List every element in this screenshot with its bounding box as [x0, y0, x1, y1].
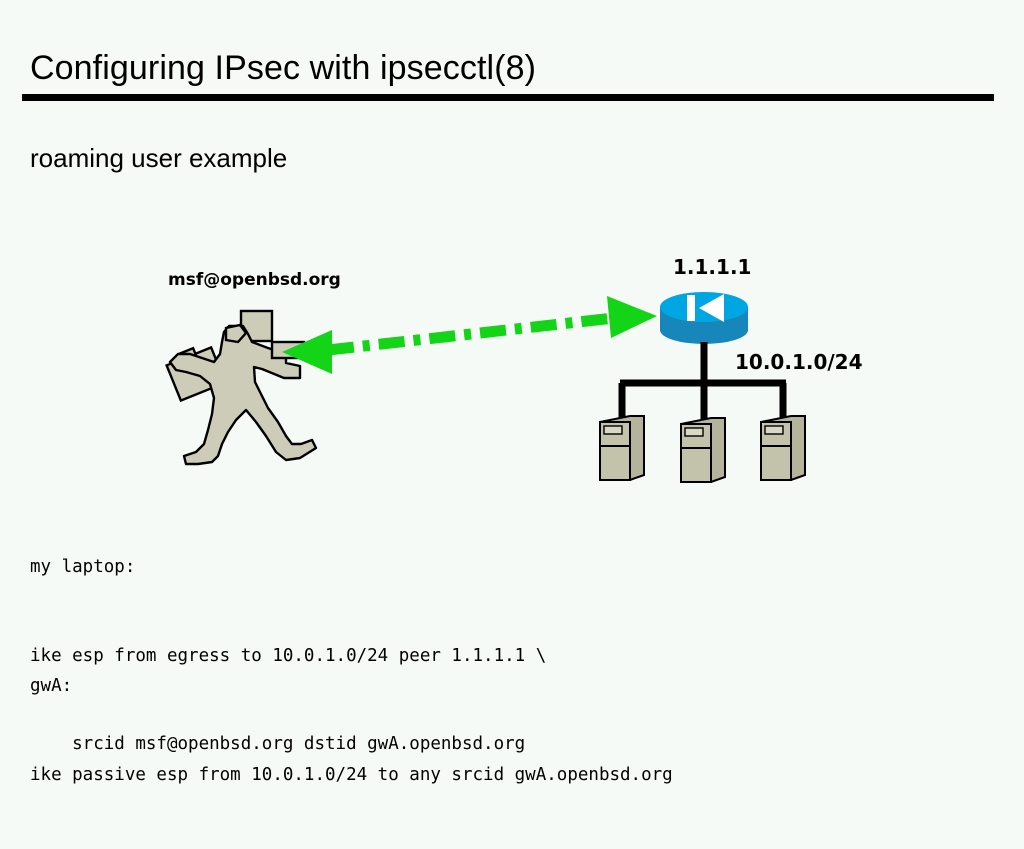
label-internal-subnet: 10.0.1.0/24	[735, 350, 863, 374]
presentation-slide: Configuring IPsec with ipsecctl(8) roami…	[0, 0, 1024, 768]
server-icon	[600, 416, 644, 480]
code-line: ike passive esp from 10.0.1.0/24 to any …	[30, 761, 673, 791]
label-gateway-ip: 1.1.1.1	[673, 255, 751, 279]
network-diagram	[0, 230, 1024, 490]
running-person-with-laptop-icon	[164, 311, 316, 464]
router-icon	[660, 292, 748, 344]
code-line: gwA:	[30, 672, 673, 702]
code-block-gwa: gwA: ike passive esp from 10.0.1.0/24 to…	[30, 613, 673, 849]
page-title: Configuring IPsec with ipsecctl(8)	[30, 50, 536, 87]
title-underline-rule	[22, 94, 994, 101]
label-roaming-user-id: msf@openbsd.org	[168, 270, 341, 290]
code-line: my laptop:	[30, 553, 546, 583]
ipsec-tunnel-arrow	[282, 296, 657, 374]
slide-subtitle: roaming user example	[30, 143, 287, 174]
server-icon	[761, 416, 805, 480]
server-icon	[681, 418, 725, 482]
